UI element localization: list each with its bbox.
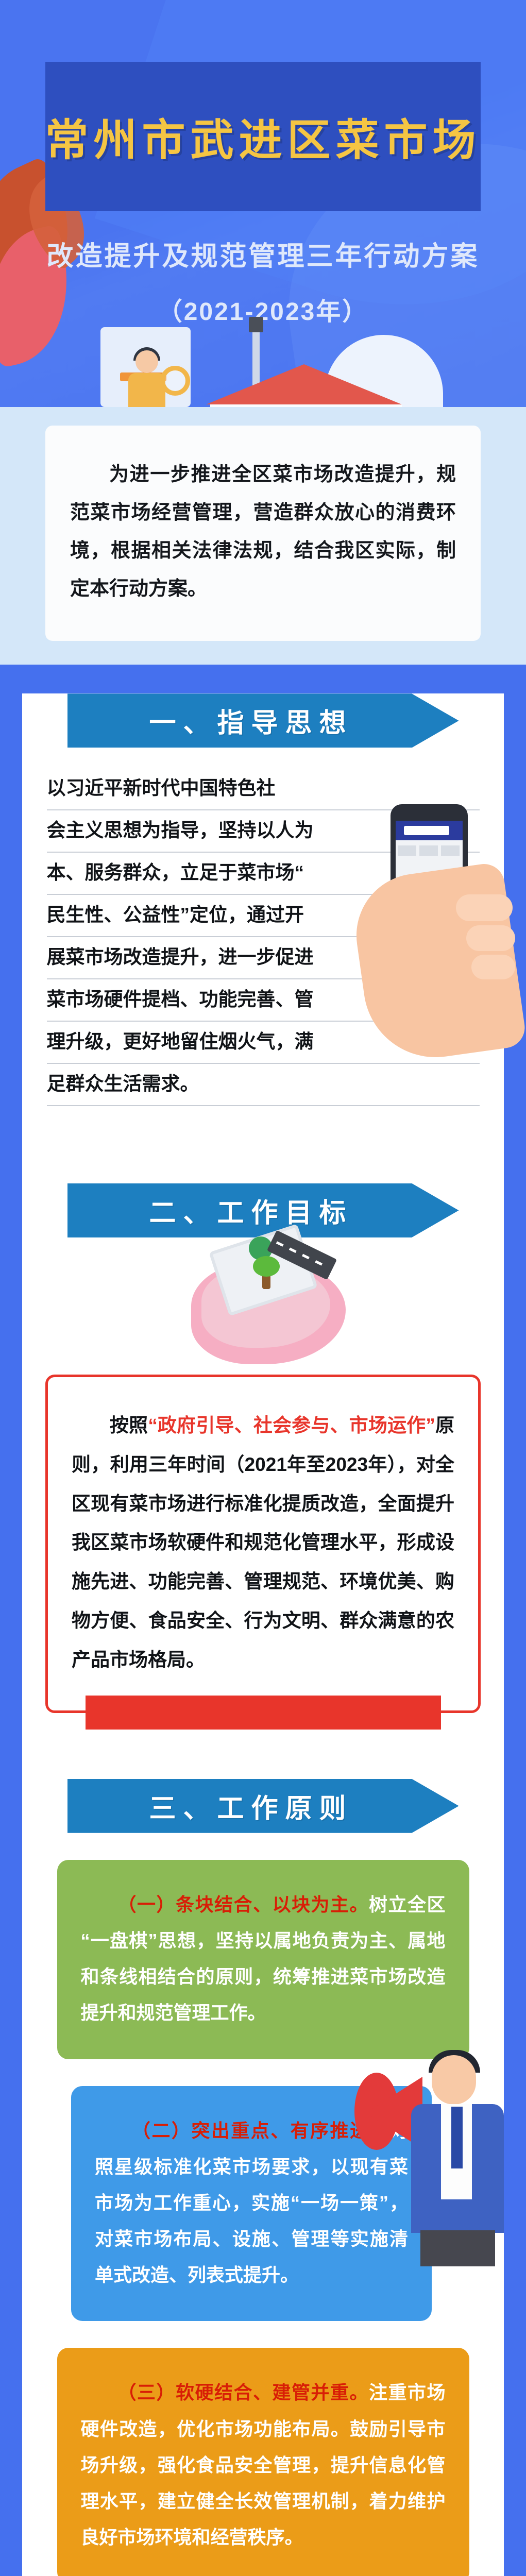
section-header-2: 二、工作目标 (67, 1183, 459, 1238)
title-plate: 常州市武进区菜市场 (45, 62, 481, 211)
goal-text-after: 原则，利用三年时间（2021年至2023年），对全区现有菜市场进行标准化提质改造… (72, 1415, 454, 1670)
principle-text-3: （三）软硬结合、建管并重。注重市场硬件改造，优化市场功能布局。鼓励引导市场升级，… (81, 2375, 446, 2555)
principle-title-1: 条块结合、以块为主。 (176, 1894, 369, 1915)
megaphone-man-icon (354, 2050, 519, 2292)
principle-title-3: 软硬结合、建管并重。 (176, 2382, 369, 2403)
market-illustration: 菜市场 (93, 384, 443, 407)
content-sheet: 一、指导思想 以习近平新时代中国特色社 会主义思想为指导，坚持以人为 本、服务群… (22, 693, 504, 2576)
tree-canopy-icon (253, 1256, 280, 1277)
principle-body-3: 注重市场硬件改造，优化市场功能布局。鼓励引导市场升级，强化食品安全管理，提升信息… (81, 2382, 446, 2548)
lamp-head-icon (249, 317, 263, 332)
section-title-2: 二、工作目标 (67, 1183, 459, 1238)
hero-banner: 常州市武进区菜市场 改造提升及规范管理三年行动方案 （2021-2023年） 菜… (0, 0, 526, 407)
principle-block-3: （三）软硬结合、建管并重。注重市场硬件改造，优化市场功能布局。鼓励引导市场升级，… (57, 2348, 469, 2576)
section-header-3: 三、工作原则 (67, 1779, 459, 1833)
red-accent-bar (86, 1696, 441, 1730)
section-title-1: 一、指导思想 (67, 693, 459, 748)
page-title: 常州市武进区菜市场 (45, 106, 481, 168)
principle-block-2: （二）突出重点、有序推进。对照星级标准化菜市场要求，以现有菜市场为工作重心，实施… (71, 2086, 432, 2321)
goal-highlight: “政府引导、社会参与、市场运作” (148, 1415, 435, 1436)
hand-holding-phone-icon (361, 804, 515, 1072)
section-1-body: 以习近平新时代中国特色社 会主义思想为指导，坚持以人为 本、服务群众，立足于菜市… (22, 768, 504, 1106)
principle-block-1: （一）条块结合、以块为主。树立全区“一盘棋”思想，坚持以属地负责为主、属地和条线… (57, 1860, 469, 2059)
principle-text-1: （一）条块结合、以块为主。树立全区“一盘棋”思想，坚持以属地负责为主、属地和条线… (81, 1887, 446, 2031)
intro-card: 为进一步推进全区菜市场改造提升，规范菜市场经营管理，营造群众放心的消费环境，根据… (45, 426, 481, 641)
intro-paragraph: 为进一步推进全区菜市场改造提升，规范菜市场经营管理，营造群众放心的消费环境，根据… (70, 455, 456, 608)
market-roof-icon (206, 364, 402, 404)
section-header-1: 一、指导思想 (67, 693, 459, 748)
principle-index-3: （三） (118, 2382, 176, 2403)
goal-box: 按照“政府引导、社会参与、市场运作”原则，利用三年时间（2021年至2023年）… (45, 1375, 481, 1713)
infographic-poster: 常州市武进区菜市场 改造提升及规范管理三年行动方案 （2021-2023年） 菜… (0, 0, 526, 2576)
intro-band: 为进一步推进全区菜市场改造提升，规范菜市场经营管理，营造群众放心的消费环境，根据… (0, 407, 526, 665)
city-tablet-illustration (47, 1261, 480, 1390)
principle-index-2: （二） (132, 2120, 191, 2141)
goal-text-before: 按照 (110, 1415, 148, 1436)
inspector-person-icon (116, 350, 183, 407)
page-subtitle: 改造提升及规范管理三年行动方案 (0, 234, 526, 273)
principle-index-1: （一） (118, 1894, 176, 1915)
magnifier-icon (160, 366, 190, 396)
goal-paragraph: 按照“政府引导、社会参与、市场运作”原则，利用三年时间（2021年至2023年）… (72, 1406, 454, 1680)
section-title-3: 三、工作原则 (67, 1779, 459, 1833)
